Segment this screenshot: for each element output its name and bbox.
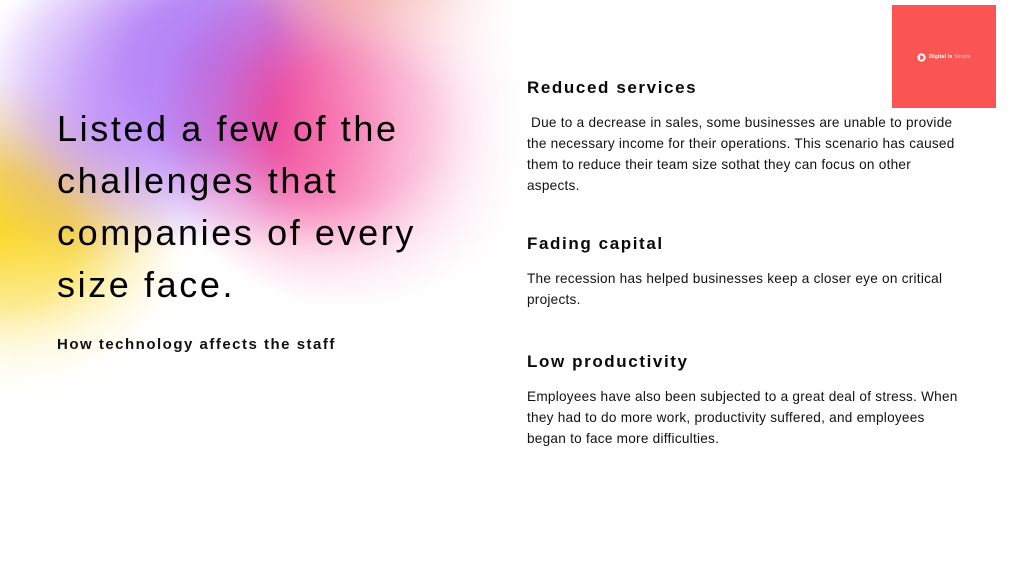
section-fading-capital: Fading capital The recession has helped … (527, 234, 959, 310)
content-column: Reduced services Due to a decrease in sa… (527, 78, 959, 449)
digital-is-simple-mark-icon (917, 53, 926, 62)
logo-word-light: Simple (954, 54, 971, 60)
section-title-low-productivity: Low productivity (527, 352, 959, 372)
gradient-blob-coral (230, 0, 560, 80)
logo-wordmark: Digital is Simple (929, 55, 970, 60)
section-body-low-productivity: Employees have also been subjected to a … (527, 386, 959, 449)
headline-column: Listed a few of the challenges that comp… (57, 103, 487, 353)
section-body-reduced-services: Due to a decrease in sales, some busines… (527, 112, 959, 196)
logo-lockup: Digital is Simple (917, 53, 970, 62)
slide-canvas: Listed a few of the challenges that comp… (0, 0, 1024, 576)
section-low-productivity: Low productivity Employees have also bee… (527, 352, 959, 449)
slide-headline: Listed a few of the challenges that comp… (57, 103, 487, 311)
section-body-fading-capital: The recession has helped businesses keep… (527, 268, 959, 310)
brand-logo-badge: Digital is Simple (892, 5, 996, 108)
slide-subheadline: How technology affects the staff (57, 336, 487, 353)
section-title-fading-capital: Fading capital (527, 234, 959, 254)
logo-word-strong: Digital is (929, 54, 952, 60)
